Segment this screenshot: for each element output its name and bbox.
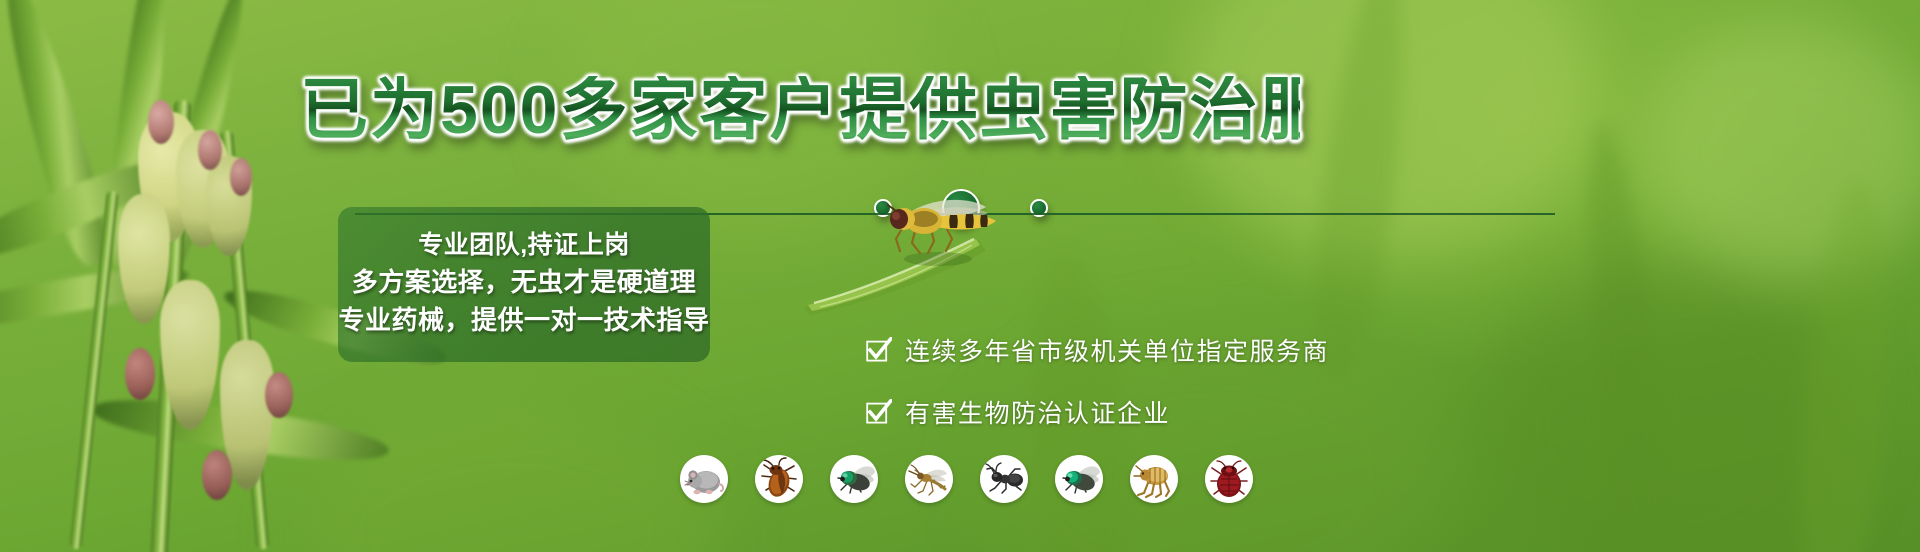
- bedbug-icon[interactable]: [1205, 455, 1253, 503]
- checkbox-checked-icon: [866, 337, 892, 363]
- hoverfly-on-grass-blade-image: [800, 195, 1030, 315]
- promotional-banner: 已为500多家客户提供虫害防治服务！ 已为500多家客户提供虫害防治服务！: [0, 0, 1920, 552]
- slogan-box: 专业团队,持证上岗 多方案选择，无虫才是硬道理 专业药械，提供一对一技术指导: [338, 207, 710, 362]
- mosquito-icon[interactable]: [905, 455, 953, 503]
- list-item-label: 有害生物防治认证企业: [905, 394, 1170, 430]
- page-title: 已为500多家客户提供虫害防治服务！: [300, 76, 1300, 144]
- housefly-icon[interactable]: [830, 455, 878, 503]
- cockroach-icon[interactable]: [755, 455, 803, 503]
- flea-icon[interactable]: [1130, 455, 1178, 503]
- list-item: 连续多年省市级机关单位指定服务商: [866, 332, 1329, 368]
- list-item-label: 连续多年省市级机关单位指定服务商: [905, 332, 1329, 368]
- list-item: 有害生物防治认证企业: [866, 394, 1329, 430]
- checkbox-checked-icon: [866, 399, 892, 425]
- slogan-line-3: 专业药械，提供一对一技术指导: [338, 303, 709, 339]
- greenbottle-fly-icon[interactable]: [1055, 455, 1103, 503]
- slogan-line-2: 多方案选择，无虫才是硬道理: [352, 265, 697, 301]
- rodent-mouse-icon[interactable]: [680, 455, 728, 503]
- slogan-line-1: 专业团队,持证上岗: [418, 228, 629, 263]
- credentials-list: 连续多年省市级机关单位指定服务商 有害生物防治认证企业: [866, 332, 1329, 430]
- pest-icon-row: [680, 455, 1253, 503]
- ant-icon[interactable]: [980, 455, 1028, 503]
